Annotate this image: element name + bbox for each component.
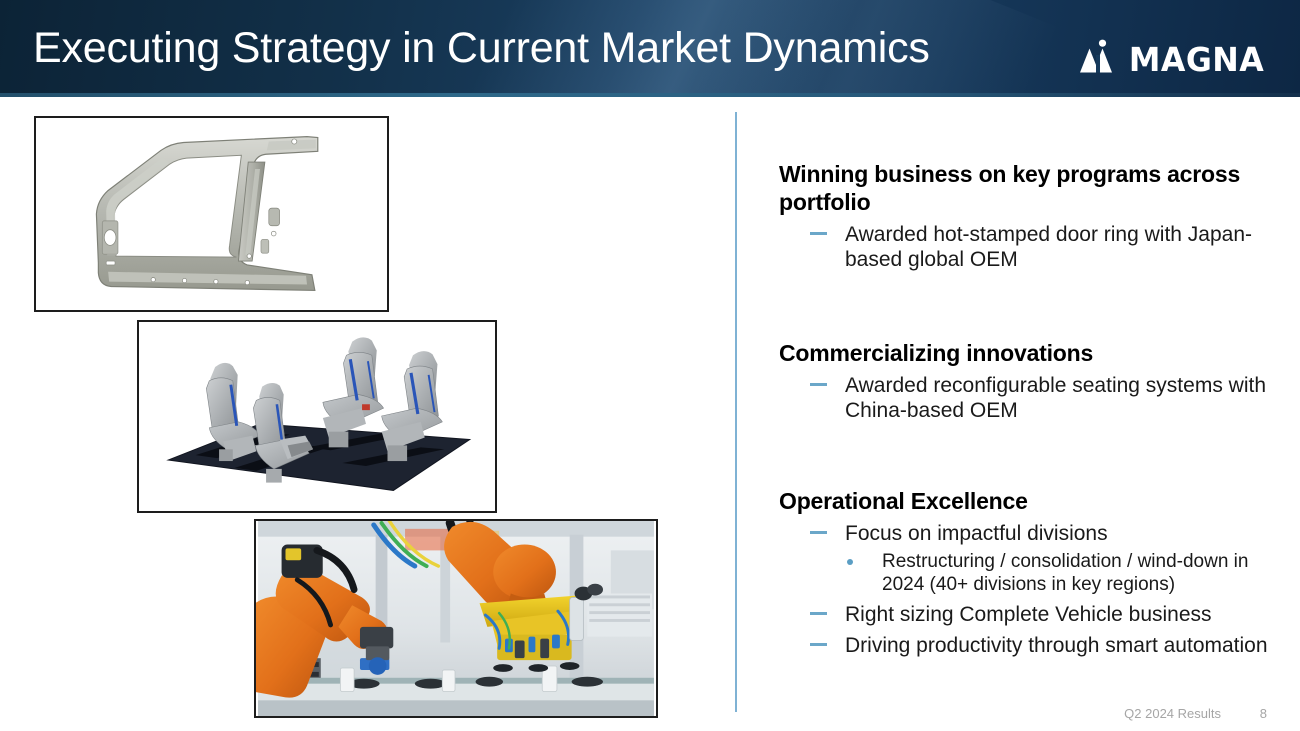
sub-bullet-item: Restructuring / consolidation / wind-dow… (779, 550, 1279, 596)
content-block-operational-excellence: Operational Excellence Focus on impactfu… (779, 487, 1279, 658)
page-title: Executing Strategy in Current Market Dyn… (33, 19, 930, 77)
bullet-text: Right sizing Complete Vehicle business (845, 603, 1212, 626)
magna-triangles-icon (1077, 39, 1117, 80)
bullet-list: Awarded hot-stamped door ring with Japan… (779, 222, 1279, 272)
bullet-list: Awarded reconfigurable seating systems w… (779, 373, 1279, 423)
slide: Executing Strategy in Current Market Dyn… (0, 0, 1300, 731)
slide-footer: Q2 2024 Results 8 (1124, 706, 1267, 722)
bullet-item: Driving productivity through smart autom… (779, 633, 1279, 658)
bullet-item: Awarded hot-stamped door ring with Japan… (779, 222, 1279, 272)
vertical-divider (735, 112, 737, 712)
smart-automation-robots-photo (254, 519, 658, 718)
footer-deck-label: Q2 2024 Results (1124, 706, 1221, 722)
footer-page-number: 8 (1257, 706, 1267, 722)
block-heading: Winning business on key programs across … (779, 160, 1279, 216)
dash-bullet-icon (810, 612, 827, 615)
bullet-text: Awarded reconfigurable seating systems w… (845, 374, 1266, 422)
reconfigurable-seating-photo (137, 320, 497, 513)
magna-logo: MAGNA (1077, 38, 1267, 80)
bullet-item: Awarded reconfigurable seating systems w… (779, 373, 1279, 423)
content-block-winning-business: Winning business on key programs across … (779, 160, 1279, 272)
sub-bullet-text: Restructuring / consolidation / wind-dow… (882, 551, 1248, 595)
hot-stamped-door-ring-photo (34, 116, 389, 312)
bullet-text: Driving productivity through smart autom… (845, 634, 1268, 657)
bullet-text: Awarded hot-stamped door ring with Japan… (845, 223, 1252, 271)
block-heading: Operational Excellence (779, 487, 1279, 515)
dash-bullet-icon (810, 643, 827, 646)
dot-bullet-icon (847, 559, 853, 565)
slide-header: Executing Strategy in Current Market Dyn… (0, 0, 1300, 97)
dash-bullet-icon (810, 232, 827, 235)
dash-bullet-icon (810, 531, 827, 534)
dash-bullet-icon (810, 383, 827, 386)
magna-wordmark: MAGNA (1129, 43, 1264, 76)
block-heading: Commercializing innovations (779, 339, 1279, 367)
bullet-list: Focus on impactful divisions Restructuri… (779, 521, 1279, 658)
content-block-commercializing-innovations: Commercializing innovations Awarded reco… (779, 339, 1279, 423)
bullet-item: Right sizing Complete Vehicle business (779, 602, 1279, 627)
bullet-text: Focus on impactful divisions (845, 522, 1108, 545)
bullet-item: Focus on impactful divisions (779, 521, 1279, 546)
